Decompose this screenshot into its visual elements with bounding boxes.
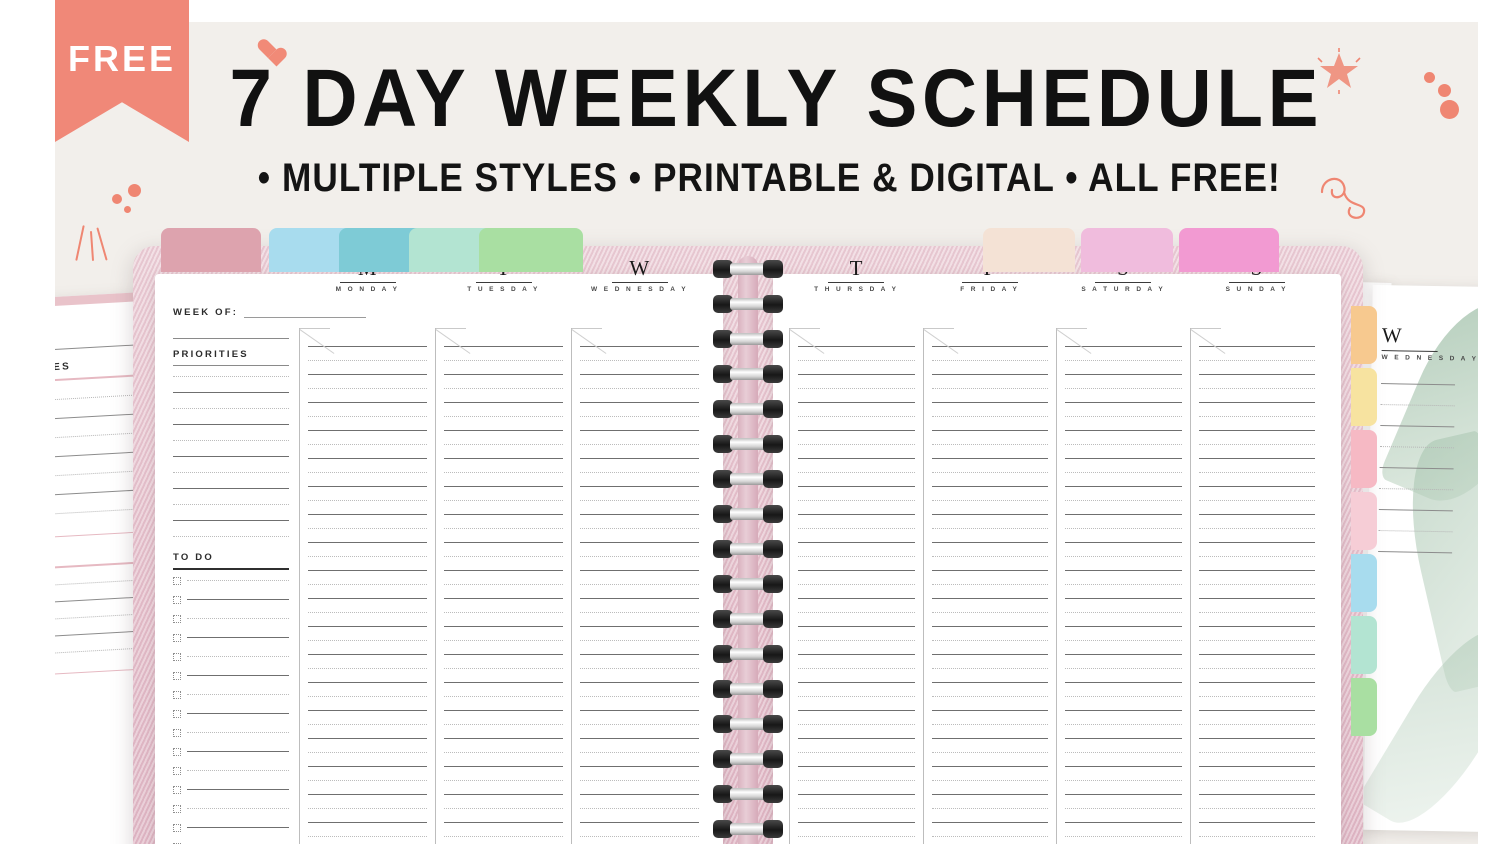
rule[interactable] (1065, 724, 1182, 725)
todo-line[interactable] (187, 827, 289, 828)
rule[interactable] (308, 598, 427, 599)
rule[interactable] (932, 402, 1049, 403)
rule[interactable] (932, 668, 1049, 669)
todo-item[interactable] (173, 767, 289, 775)
rule[interactable] (444, 472, 563, 473)
rule[interactable] (932, 374, 1049, 375)
rule[interactable] (444, 766, 563, 767)
rule[interactable] (308, 556, 427, 557)
rule[interactable] (798, 794, 915, 795)
checkbox-icon[interactable] (173, 805, 181, 813)
rule[interactable] (1199, 542, 1316, 543)
checkbox-icon[interactable] (173, 691, 181, 699)
rule[interactable] (798, 486, 915, 487)
rule[interactable] (798, 822, 915, 823)
rule[interactable] (932, 500, 1049, 501)
rule[interactable] (580, 486, 699, 487)
rule[interactable] (1199, 710, 1316, 711)
rule[interactable] (1065, 528, 1182, 529)
todo-line[interactable] (187, 656, 289, 657)
rule[interactable] (444, 528, 563, 529)
rule[interactable] (173, 456, 289, 457)
rule[interactable] (308, 430, 427, 431)
planner-page-left[interactable]: WEEK OF: PRIORITIES (155, 274, 723, 844)
rule[interactable] (1199, 360, 1316, 361)
rule[interactable] (932, 724, 1049, 725)
rule[interactable] (1199, 668, 1316, 669)
rule[interactable] (308, 360, 427, 361)
rule[interactable] (1199, 486, 1316, 487)
rule[interactable] (798, 738, 915, 739)
checkbox-icon[interactable] (173, 672, 181, 680)
todo-item[interactable] (173, 615, 289, 623)
todo-line[interactable] (187, 713, 289, 714)
checkbox-icon[interactable] (173, 577, 181, 585)
top-tab-1[interactable] (161, 228, 261, 272)
rule[interactable] (580, 500, 699, 501)
rule[interactable] (1065, 500, 1182, 501)
rule[interactable] (1199, 458, 1316, 459)
rule[interactable] (1065, 696, 1182, 697)
rule[interactable] (444, 598, 563, 599)
rule[interactable] (580, 360, 699, 361)
rule[interactable] (798, 696, 915, 697)
rule[interactable] (932, 584, 1049, 585)
top-tab-7[interactable] (1081, 228, 1173, 272)
rule[interactable] (798, 416, 915, 417)
rule[interactable] (798, 724, 915, 725)
rule[interactable] (444, 416, 563, 417)
checkbox-icon[interactable] (173, 634, 181, 642)
rule[interactable] (1199, 738, 1316, 739)
rule[interactable] (798, 458, 915, 459)
rule[interactable] (798, 598, 915, 599)
rule[interactable] (798, 472, 915, 473)
todo-line[interactable] (187, 732, 289, 733)
rule[interactable] (1199, 416, 1316, 417)
rule[interactable] (173, 392, 289, 393)
rule[interactable] (308, 794, 427, 795)
rule[interactable] (932, 612, 1049, 613)
rule[interactable] (308, 542, 427, 543)
rule[interactable] (798, 430, 915, 431)
todo-line[interactable] (187, 808, 289, 809)
rule[interactable] (932, 738, 1049, 739)
rule[interactable] (308, 444, 427, 445)
rule[interactable] (580, 570, 699, 571)
planner-page-right[interactable]: T T H U R S D A Y (773, 274, 1341, 844)
top-tab-5[interactable] (479, 228, 583, 272)
rule[interactable] (1199, 626, 1316, 627)
rule[interactable] (798, 500, 915, 501)
rule[interactable] (1065, 458, 1182, 459)
rule[interactable] (1065, 416, 1182, 417)
todo-item[interactable] (173, 672, 289, 680)
rule[interactable] (308, 472, 427, 473)
rule[interactable] (1199, 598, 1316, 599)
todo-item[interactable] (173, 710, 289, 718)
rule[interactable] (444, 738, 563, 739)
rule[interactable] (1065, 780, 1182, 781)
rule[interactable] (1065, 514, 1182, 515)
rule[interactable] (308, 822, 427, 823)
checkbox-icon[interactable] (173, 729, 181, 737)
rule[interactable] (1199, 682, 1316, 683)
rule[interactable] (798, 402, 915, 403)
rule[interactable] (173, 504, 289, 505)
todo-line[interactable] (187, 770, 289, 771)
rule[interactable] (932, 528, 1049, 529)
rule[interactable] (1065, 584, 1182, 585)
rule[interactable] (444, 640, 563, 641)
rule[interactable] (1199, 794, 1316, 795)
rule[interactable] (308, 780, 427, 781)
rule[interactable] (308, 710, 427, 711)
rule[interactable] (932, 794, 1049, 795)
rule[interactable] (308, 374, 427, 375)
rule[interactable] (932, 710, 1049, 711)
rule[interactable] (1065, 752, 1182, 753)
rule[interactable] (580, 682, 699, 683)
rule[interactable] (444, 668, 563, 669)
rule[interactable] (932, 780, 1049, 781)
rule[interactable] (798, 444, 915, 445)
rule[interactable] (308, 486, 427, 487)
rule[interactable] (932, 640, 1049, 641)
rule[interactable] (308, 682, 427, 683)
rule[interactable] (173, 408, 289, 409)
rule[interactable] (1065, 542, 1182, 543)
rule[interactable] (308, 458, 427, 459)
todo-line[interactable] (187, 675, 289, 676)
rule[interactable] (444, 626, 563, 627)
rule[interactable] (1065, 682, 1182, 683)
rule[interactable] (1199, 472, 1316, 473)
rule[interactable] (444, 402, 563, 403)
side-tab[interactable] (1351, 430, 1377, 488)
rule[interactable] (580, 430, 699, 431)
week-of-input-line[interactable] (244, 308, 366, 318)
rule[interactable] (1065, 654, 1182, 655)
rule[interactable] (1199, 444, 1316, 445)
rule[interactable] (580, 626, 699, 627)
rule[interactable] (1199, 780, 1316, 781)
day-lines[interactable] (1057, 328, 1190, 844)
checkbox-icon[interactable] (173, 710, 181, 718)
rule[interactable] (1065, 794, 1182, 795)
rule[interactable] (308, 626, 427, 627)
rule[interactable] (932, 836, 1049, 837)
rule[interactable] (932, 444, 1049, 445)
rule[interactable] (1199, 724, 1316, 725)
rule[interactable] (932, 486, 1049, 487)
rule[interactable] (1199, 654, 1316, 655)
rule[interactable] (580, 808, 699, 809)
rule[interactable] (1199, 612, 1316, 613)
rule[interactable] (580, 402, 699, 403)
rule[interactable] (932, 766, 1049, 767)
rule[interactable] (444, 374, 563, 375)
rule[interactable] (580, 542, 699, 543)
rule[interactable] (798, 556, 915, 557)
rule[interactable] (1065, 822, 1182, 823)
rule[interactable] (1065, 374, 1182, 375)
rule[interactable] (173, 536, 289, 537)
rule[interactable] (1065, 710, 1182, 711)
rule[interactable] (308, 738, 427, 739)
rule[interactable] (798, 808, 915, 809)
rule[interactable] (1199, 556, 1316, 557)
todo-line[interactable] (187, 789, 289, 790)
rule[interactable] (798, 766, 915, 767)
top-tab-8[interactable] (1179, 228, 1279, 272)
rule[interactable] (580, 668, 699, 669)
rule[interactable] (444, 836, 563, 837)
rule[interactable] (444, 500, 563, 501)
todo-item[interactable] (173, 824, 289, 832)
rule[interactable] (444, 360, 563, 361)
rule[interactable] (173, 488, 289, 489)
rule[interactable] (444, 654, 563, 655)
todo-item[interactable] (173, 577, 289, 585)
rule[interactable] (444, 710, 563, 711)
rule[interactable] (798, 780, 915, 781)
rule[interactable] (308, 696, 427, 697)
rule[interactable] (580, 724, 699, 725)
rule[interactable] (444, 696, 563, 697)
rule[interactable] (173, 424, 289, 425)
day-lines[interactable] (924, 328, 1057, 844)
rule[interactable] (798, 612, 915, 613)
checkbox-icon[interactable] (173, 824, 181, 832)
rule[interactable] (1199, 528, 1316, 529)
rule[interactable] (932, 570, 1049, 571)
rule[interactable] (1199, 822, 1316, 823)
rule[interactable] (173, 440, 289, 441)
todo-item[interactable] (173, 653, 289, 661)
rule[interactable] (580, 654, 699, 655)
rule[interactable] (580, 752, 699, 753)
rule[interactable] (308, 500, 427, 501)
rule[interactable] (580, 696, 699, 697)
rule[interactable] (1065, 570, 1182, 571)
checkbox-icon[interactable] (173, 748, 181, 756)
day-column-friday[interactable]: F F R I D A Y (923, 328, 1057, 844)
rule[interactable] (173, 520, 289, 521)
rule[interactable] (798, 388, 915, 389)
rule[interactable] (1065, 836, 1182, 837)
rule[interactable] (444, 514, 563, 515)
rule[interactable] (798, 836, 915, 837)
rule[interactable] (580, 640, 699, 641)
day-column-monday[interactable]: M M O N D A Y (299, 328, 435, 844)
rule[interactable] (444, 794, 563, 795)
day-lines[interactable] (572, 328, 707, 844)
rule[interactable] (1065, 472, 1182, 473)
top-tab-6[interactable] (983, 228, 1075, 272)
todo-line[interactable] (187, 599, 289, 600)
rule[interactable] (444, 486, 563, 487)
rule[interactable] (932, 598, 1049, 599)
side-tab[interactable] (1351, 554, 1377, 612)
rule[interactable] (173, 472, 289, 473)
rule[interactable] (1065, 808, 1182, 809)
rule[interactable] (798, 570, 915, 571)
checkbox-icon[interactable] (173, 767, 181, 775)
rule[interactable] (1199, 374, 1316, 375)
checkbox-icon[interactable] (173, 596, 181, 604)
rule[interactable] (932, 458, 1049, 459)
rule[interactable] (444, 542, 563, 543)
rule[interactable] (308, 640, 427, 641)
rule[interactable] (308, 388, 427, 389)
rule[interactable] (932, 752, 1049, 753)
weekly-planner-spread[interactable]: WEEK OF: PRIORITIES (133, 246, 1363, 844)
rule[interactable] (1199, 808, 1316, 809)
rule[interactable] (932, 808, 1049, 809)
rule[interactable] (444, 556, 563, 557)
rule[interactable] (932, 682, 1049, 683)
rule[interactable] (444, 458, 563, 459)
rule[interactable] (1065, 444, 1182, 445)
rule[interactable] (932, 360, 1049, 361)
rule[interactable] (580, 612, 699, 613)
rule[interactable] (932, 542, 1049, 543)
rule[interactable] (1199, 584, 1316, 585)
rule[interactable] (580, 514, 699, 515)
rule[interactable] (1065, 598, 1182, 599)
rule[interactable] (308, 584, 427, 585)
day-column-sunday[interactable]: S S U N D A Y (1190, 328, 1324, 844)
todo-line[interactable] (187, 618, 289, 619)
rule[interactable] (308, 514, 427, 515)
day-column-tuesday[interactable]: T T U E S D A Y (435, 328, 571, 844)
rule[interactable] (580, 528, 699, 529)
rule[interactable] (1065, 612, 1182, 613)
priorities-lines[interactable] (173, 366, 289, 537)
rule[interactable] (932, 822, 1049, 823)
rule[interactable] (173, 376, 289, 377)
day-lines[interactable] (790, 328, 923, 844)
todo-item[interactable] (173, 596, 289, 604)
rule[interactable] (308, 668, 427, 669)
rule[interactable] (932, 430, 1049, 431)
rule[interactable] (1065, 360, 1182, 361)
rule[interactable] (580, 766, 699, 767)
rule[interactable] (308, 416, 427, 417)
rule[interactable] (932, 472, 1049, 473)
todo-item[interactable] (173, 805, 289, 813)
checkbox-icon[interactable] (173, 653, 181, 661)
rule[interactable] (932, 514, 1049, 515)
day-lines[interactable] (300, 328, 435, 844)
rule[interactable] (308, 570, 427, 571)
rule[interactable] (932, 556, 1049, 557)
day-lines[interactable] (1191, 328, 1324, 844)
rule[interactable] (580, 472, 699, 473)
rule[interactable] (1199, 500, 1316, 501)
day-lines[interactable] (436, 328, 571, 844)
rule[interactable] (798, 626, 915, 627)
rule[interactable] (798, 668, 915, 669)
side-tab[interactable] (1351, 616, 1377, 674)
side-tab[interactable] (1351, 492, 1377, 550)
day-column-thursday[interactable]: T T H U R S D A Y (789, 328, 923, 844)
rule[interactable] (580, 556, 699, 557)
rule[interactable] (798, 542, 915, 543)
rule[interactable] (1065, 626, 1182, 627)
rule[interactable] (580, 822, 699, 823)
checkbox-icon[interactable] (173, 615, 181, 623)
rule[interactable] (444, 808, 563, 809)
rule[interactable] (308, 808, 427, 809)
rule[interactable] (444, 570, 563, 571)
todo-line[interactable] (187, 637, 289, 638)
rule[interactable] (1199, 640, 1316, 641)
rule[interactable] (444, 444, 563, 445)
rule[interactable] (308, 724, 427, 725)
todo-item[interactable] (173, 691, 289, 699)
rule[interactable] (932, 654, 1049, 655)
rule[interactable] (444, 682, 563, 683)
rule[interactable] (444, 780, 563, 781)
rule[interactable] (1065, 766, 1182, 767)
rule[interactable] (444, 612, 563, 613)
rule[interactable] (932, 696, 1049, 697)
rule[interactable] (308, 766, 427, 767)
rule[interactable] (798, 374, 915, 375)
rule[interactable] (1065, 668, 1182, 669)
todo-line[interactable] (187, 751, 289, 752)
rule[interactable] (1199, 570, 1316, 571)
rule[interactable] (444, 430, 563, 431)
rule[interactable] (798, 528, 915, 529)
rule[interactable] (444, 752, 563, 753)
todo-line[interactable] (187, 694, 289, 695)
todo-list[interactable] (173, 570, 289, 844)
rule[interactable] (1199, 514, 1316, 515)
rule[interactable] (444, 822, 563, 823)
rule[interactable] (1199, 430, 1316, 431)
rule[interactable] (580, 710, 699, 711)
side-index-tabs[interactable] (1351, 306, 1377, 740)
rule[interactable] (580, 584, 699, 585)
rule[interactable] (580, 444, 699, 445)
rule[interactable] (798, 752, 915, 753)
rule[interactable] (1065, 640, 1182, 641)
rule[interactable] (932, 416, 1049, 417)
rule[interactable] (1065, 402, 1182, 403)
rule[interactable] (580, 416, 699, 417)
rule[interactable] (798, 710, 915, 711)
side-tab[interactable] (1351, 306, 1377, 364)
todo-item[interactable] (173, 786, 289, 794)
rule[interactable] (444, 584, 563, 585)
week-of-row[interactable]: WEEK OF: (173, 296, 707, 318)
rule[interactable] (1065, 430, 1182, 431)
rule[interactable] (580, 374, 699, 375)
rule[interactable] (580, 458, 699, 459)
todo-item[interactable] (173, 729, 289, 737)
rule[interactable] (932, 626, 1049, 627)
side-tab[interactable] (1351, 678, 1377, 736)
rule[interactable] (1199, 752, 1316, 753)
rule[interactable] (444, 724, 563, 725)
rule[interactable] (1199, 836, 1316, 837)
day-column-wednesday[interactable]: W W E D N E S D A Y (571, 328, 707, 844)
rule[interactable] (1065, 556, 1182, 557)
rule[interactable] (308, 836, 427, 837)
